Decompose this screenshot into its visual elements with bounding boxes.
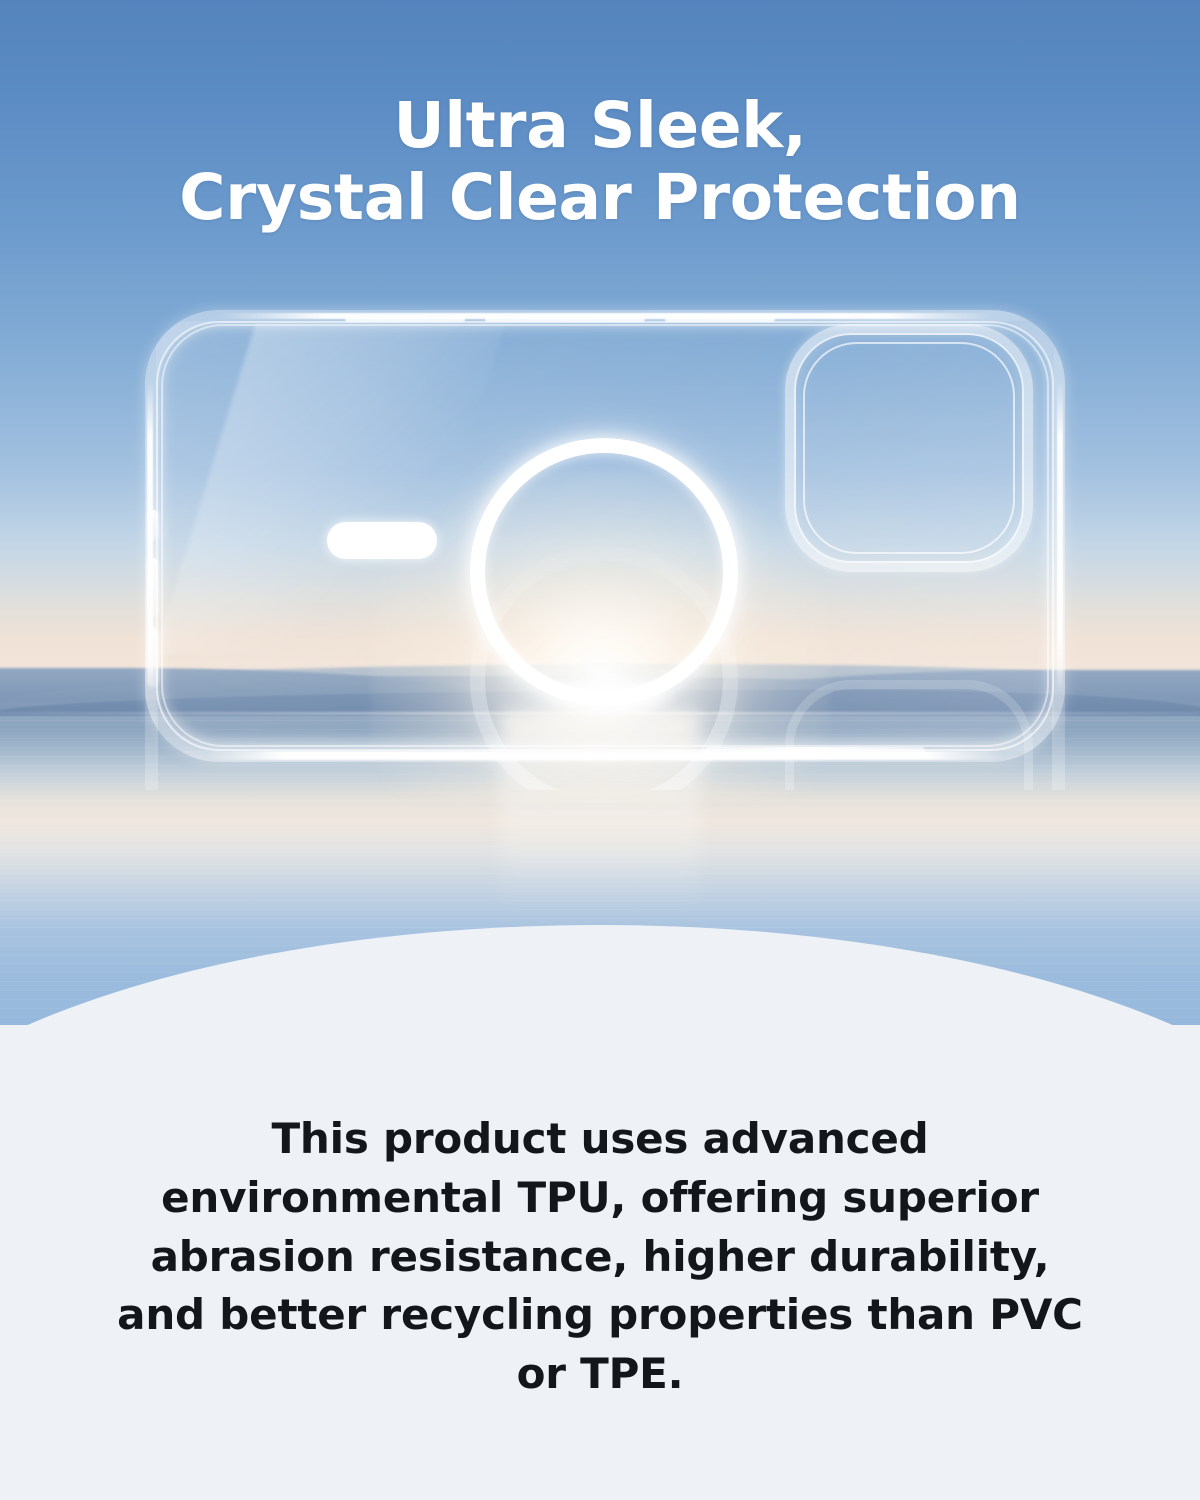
- speaker-grille-cutout: [705, 747, 925, 754]
- volume-down-cutout: [148, 628, 158, 686]
- volume-up-cutout: [148, 558, 158, 616]
- case-top-seam-1: [345, 317, 465, 322]
- clear-phone-case: [145, 310, 1065, 762]
- alignment-pill: [327, 522, 437, 559]
- mute-switch-cutout: [148, 510, 158, 540]
- product-description-text: This product uses advanced environmental…: [100, 1110, 1100, 1404]
- headline-line-1: Ultra Sleek,: [0, 90, 1200, 162]
- headline-line-2: Crystal Clear Protection: [0, 162, 1200, 234]
- product-feature-page: Ultra Sleek, Crystal Clear Protection Th…: [0, 0, 1200, 1500]
- hero-headline: Ultra Sleek, Crystal Clear Protection: [0, 90, 1200, 234]
- camera-cutout-inner-rim: [803, 342, 1015, 554]
- case-top-seam-2: [485, 317, 645, 322]
- case-rim-highlight-right: [1057, 380, 1063, 692]
- camera-module-cutout: [785, 324, 1033, 572]
- hero-image: Ultra Sleek, Crystal Clear Protection: [0, 0, 1200, 1025]
- magsafe-ring: [470, 438, 738, 706]
- case-top-seam-3: [665, 317, 775, 322]
- description-section: This product uses advanced environmental…: [0, 1025, 1200, 1500]
